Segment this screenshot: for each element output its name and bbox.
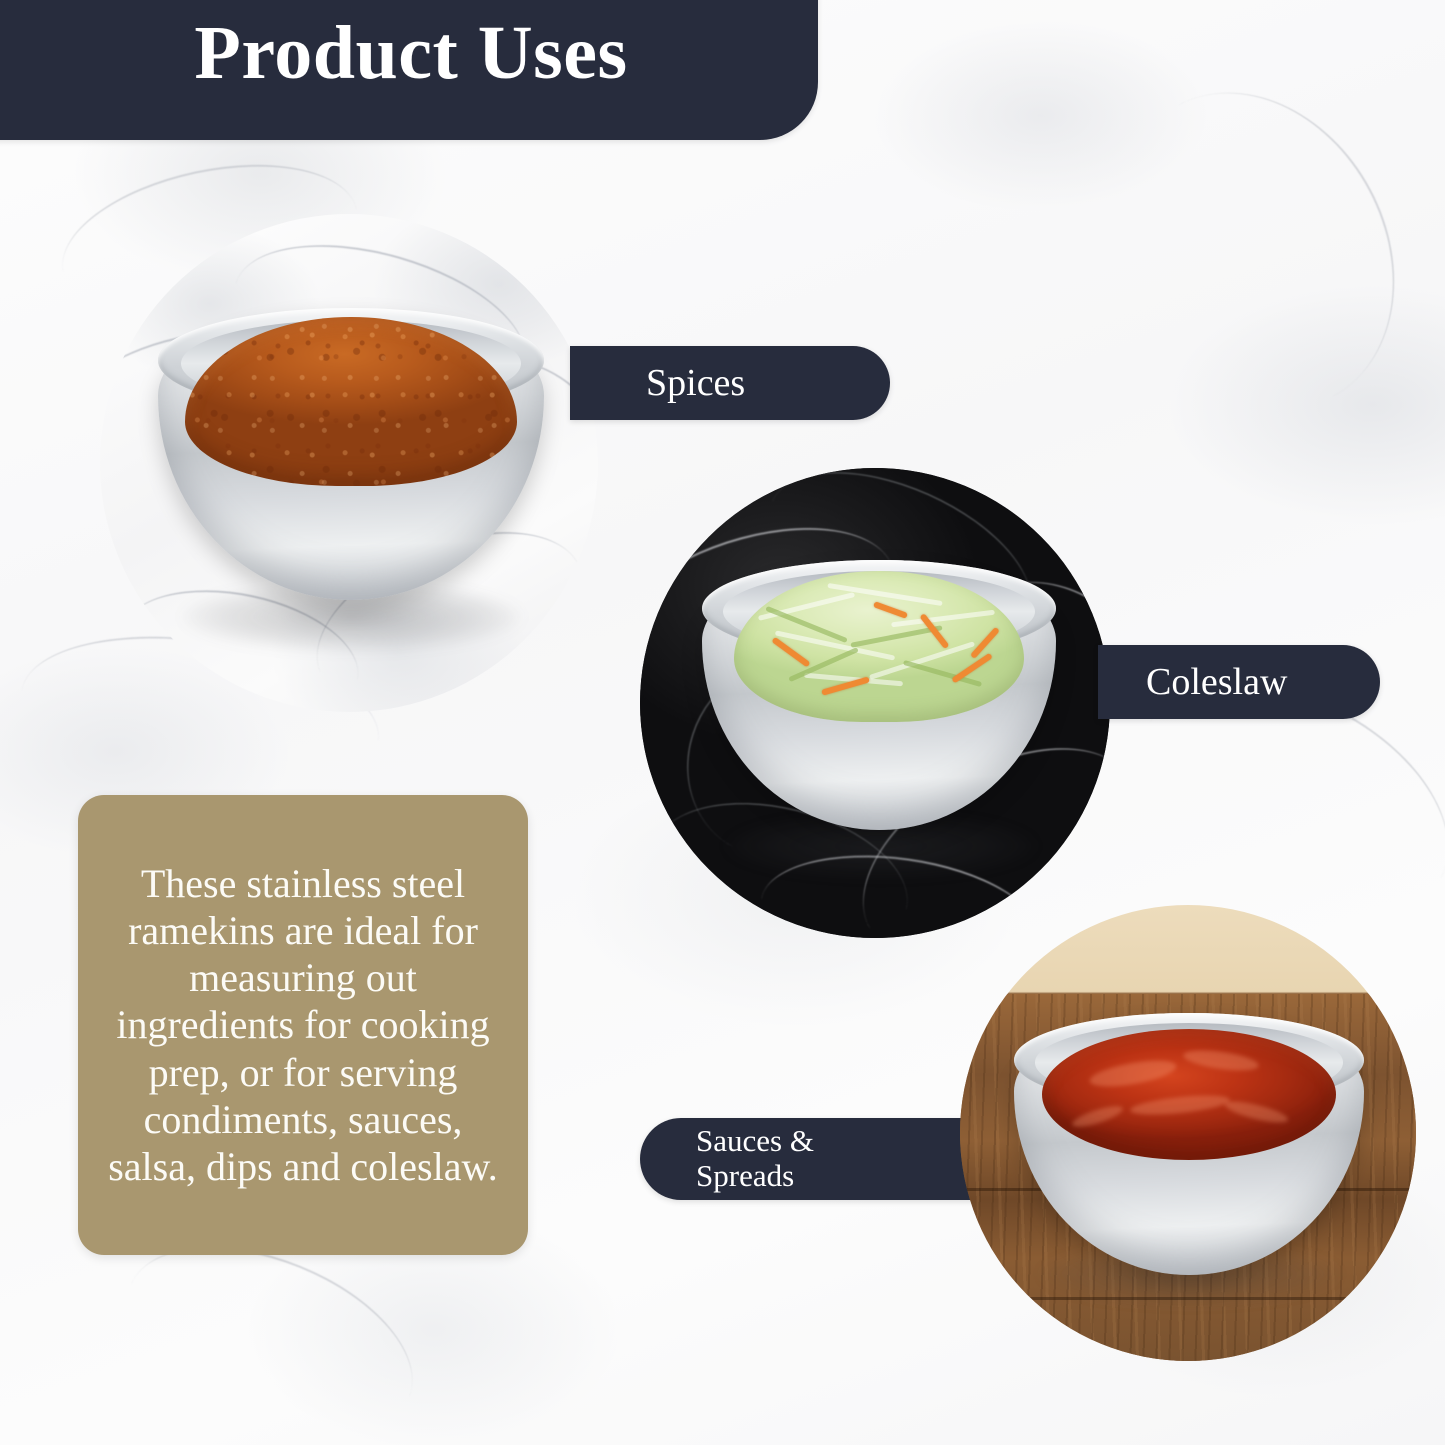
header-banner: Product Uses (0, 0, 818, 140)
product-uses-infographic: Product Uses Spices Coleslaw (0, 0, 1445, 1445)
sauce-bowl (1014, 1013, 1364, 1275)
description-text: These stainless steel ramekins are ideal… (78, 860, 528, 1190)
photo-spices (100, 214, 598, 712)
label-sauces-line1: Sauces & (696, 1124, 814, 1159)
label-coleslaw: Coleslaw (1146, 660, 1287, 704)
photo-sauces-spreads (960, 905, 1416, 1361)
photo-coleslaw (640, 468, 1110, 938)
description-card: These stainless steel ramekins are ideal… (78, 795, 528, 1255)
label-spices: Spices (646, 361, 745, 405)
label-sauces-line2: Spreads (696, 1159, 814, 1194)
sauce-contents (1042, 1029, 1336, 1160)
coleslaw-bowl (702, 560, 1056, 830)
page-title: Product Uses (0, 8, 818, 99)
spices-bowl (158, 308, 544, 600)
label-pill-coleslaw: Coleslaw (1098, 645, 1380, 719)
label-pill-spices: Spices (570, 346, 890, 420)
